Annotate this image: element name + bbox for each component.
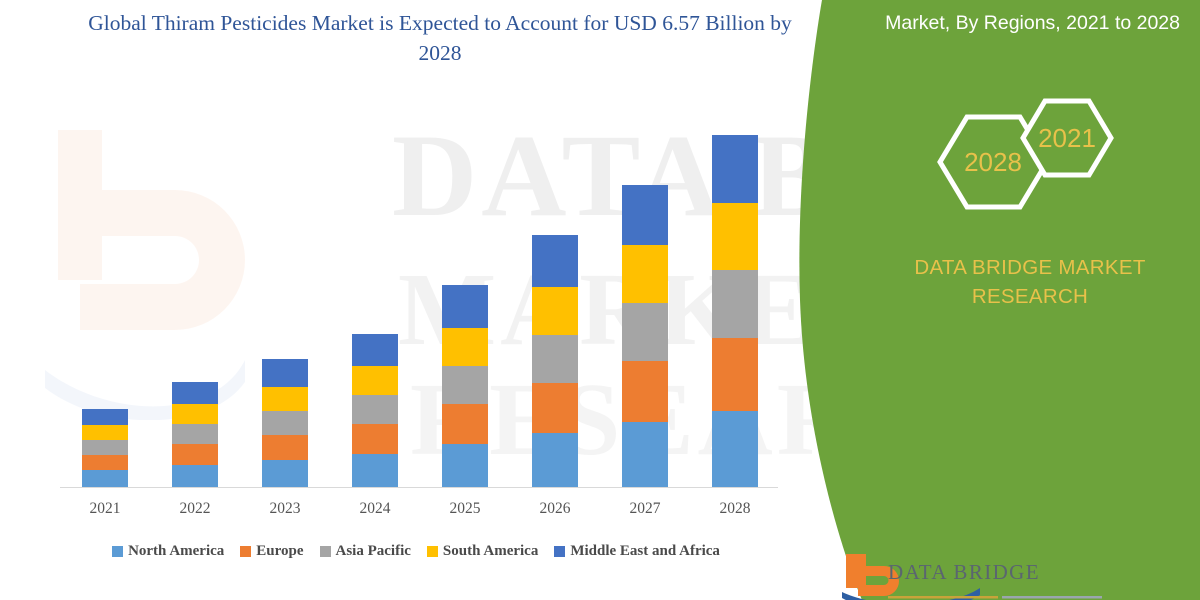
legend-swatch-icon	[320, 546, 331, 557]
x-axis-tick: 2023	[255, 500, 315, 518]
bar-group	[622, 185, 668, 487]
bar-segment[interactable]	[712, 203, 758, 270]
brand-name: DATA BRIDGE MARKET RESEARCH	[880, 253, 1180, 311]
bar-group	[82, 409, 128, 487]
bar-segment[interactable]	[172, 404, 218, 424]
bar-segment[interactable]	[712, 270, 758, 338]
legend-item[interactable]: Europe	[240, 543, 303, 560]
bar-segment[interactable]	[442, 444, 488, 487]
bar-segment[interactable]	[442, 285, 488, 328]
bar-segment[interactable]	[262, 411, 308, 435]
stacked-bar[interactable]	[532, 235, 578, 487]
bar-segment[interactable]	[172, 444, 218, 465]
bar-segment[interactable]	[352, 454, 398, 487]
bar-segment[interactable]	[82, 425, 128, 440]
legend-item[interactable]: South America	[427, 543, 538, 560]
bar-segment[interactable]	[262, 435, 308, 460]
x-axis-tick-labels: 20212022202320242025202620272028	[60, 500, 780, 524]
bar-segment[interactable]	[82, 455, 128, 470]
legend-swatch-icon	[112, 546, 123, 557]
stacked-bar[interactable]	[712, 135, 758, 487]
bar-segment[interactable]	[532, 433, 578, 487]
brand-name-line1: DATA BRIDGE MARKET	[914, 256, 1145, 279]
x-axis-tick: 2024	[345, 500, 405, 518]
hexagon-2028-label: 2028	[964, 147, 1022, 177]
legend-label: Asia Pacific	[336, 543, 411, 560]
hexagon-2028-shape	[940, 117, 1047, 207]
bar-segment[interactable]	[172, 382, 218, 404]
stacked-bar[interactable]	[172, 382, 218, 487]
x-axis-tick: 2022	[165, 500, 225, 518]
stacked-bar[interactable]	[82, 409, 128, 487]
bar-segment[interactable]	[262, 460, 308, 487]
x-axis-tick: 2028	[705, 500, 765, 518]
bar-segment[interactable]	[442, 328, 488, 366]
bar-segment[interactable]	[442, 404, 488, 444]
stacked-bar[interactable]	[442, 285, 488, 487]
bar-segment[interactable]	[712, 135, 758, 203]
databridge-logo-text: DATA BRIDGE	[888, 560, 1040, 585]
stacked-bar[interactable]	[622, 185, 668, 487]
bar-segment[interactable]	[532, 235, 578, 287]
chart-panel: DATA BRIDGE MARKET RESEARCH Global Thira…	[0, 0, 870, 600]
legend-label: Middle East and Africa	[570, 543, 720, 560]
bar-segment[interactable]	[172, 424, 218, 444]
x-axis-tick: 2025	[435, 500, 495, 518]
bar-segment[interactable]	[532, 287, 578, 335]
legend-swatch-icon	[554, 546, 565, 557]
bar-segment[interactable]	[352, 366, 398, 395]
hexagon-badges: 2028 2021	[925, 95, 1125, 230]
bar-segment[interactable]	[622, 361, 668, 422]
bar-segment[interactable]	[172, 465, 218, 487]
bar-group	[352, 334, 398, 487]
legend-label: South America	[443, 543, 538, 560]
stacked-bar[interactable]	[262, 359, 308, 487]
bar-segment[interactable]	[622, 422, 668, 487]
regions-heading: Market, By Regions, 2021 to 2028	[880, 8, 1180, 38]
bar-group	[532, 235, 578, 487]
bar-segment[interactable]	[82, 409, 128, 425]
bar-segment[interactable]	[352, 334, 398, 366]
bar-segment[interactable]	[712, 338, 758, 411]
bar-segment[interactable]	[82, 440, 128, 455]
bar-segment[interactable]	[532, 335, 578, 383]
legend-label: Europe	[256, 543, 303, 560]
hexagon-2021-shape	[1023, 101, 1111, 175]
plot-area	[60, 100, 780, 488]
chart-legend: North AmericaEuropeAsia PacificSouth Ame…	[46, 539, 786, 563]
bar-segment[interactable]	[712, 411, 758, 487]
bar-segment[interactable]	[262, 359, 308, 387]
legend-item[interactable]: Middle East and Africa	[554, 543, 720, 560]
hexagon-2021-label: 2021	[1038, 123, 1096, 153]
x-axis-tick: 2021	[75, 500, 135, 518]
legend-item[interactable]: North America	[112, 543, 224, 560]
legend-item[interactable]: Asia Pacific	[320, 543, 411, 560]
legend-swatch-icon	[427, 546, 438, 557]
bar-segment[interactable]	[622, 303, 668, 361]
bar-segment[interactable]	[442, 366, 488, 404]
bar-segment[interactable]	[262, 387, 308, 411]
bar-group	[172, 382, 218, 487]
bar-segment[interactable]	[82, 470, 128, 487]
bar-group	[262, 359, 308, 487]
bar-segment[interactable]	[532, 383, 578, 433]
stacked-bar[interactable]	[352, 334, 398, 487]
chart-title: Global Thiram Pesticides Market is Expec…	[70, 8, 810, 68]
x-axis-tick: 2026	[525, 500, 585, 518]
bar-segment[interactable]	[622, 245, 668, 303]
databridge-logo	[840, 552, 1180, 600]
x-axis-line	[60, 487, 778, 488]
bar-segment[interactable]	[352, 424, 398, 454]
brand-name-line2: RESEARCH	[972, 285, 1088, 308]
x-axis-tick: 2027	[615, 500, 675, 518]
bar-segment[interactable]	[352, 395, 398, 424]
bar-segment[interactable]	[622, 185, 668, 245]
legend-swatch-icon	[240, 546, 251, 557]
legend-label: North America	[128, 543, 224, 560]
bar-group	[442, 285, 488, 487]
bar-group	[712, 135, 758, 487]
